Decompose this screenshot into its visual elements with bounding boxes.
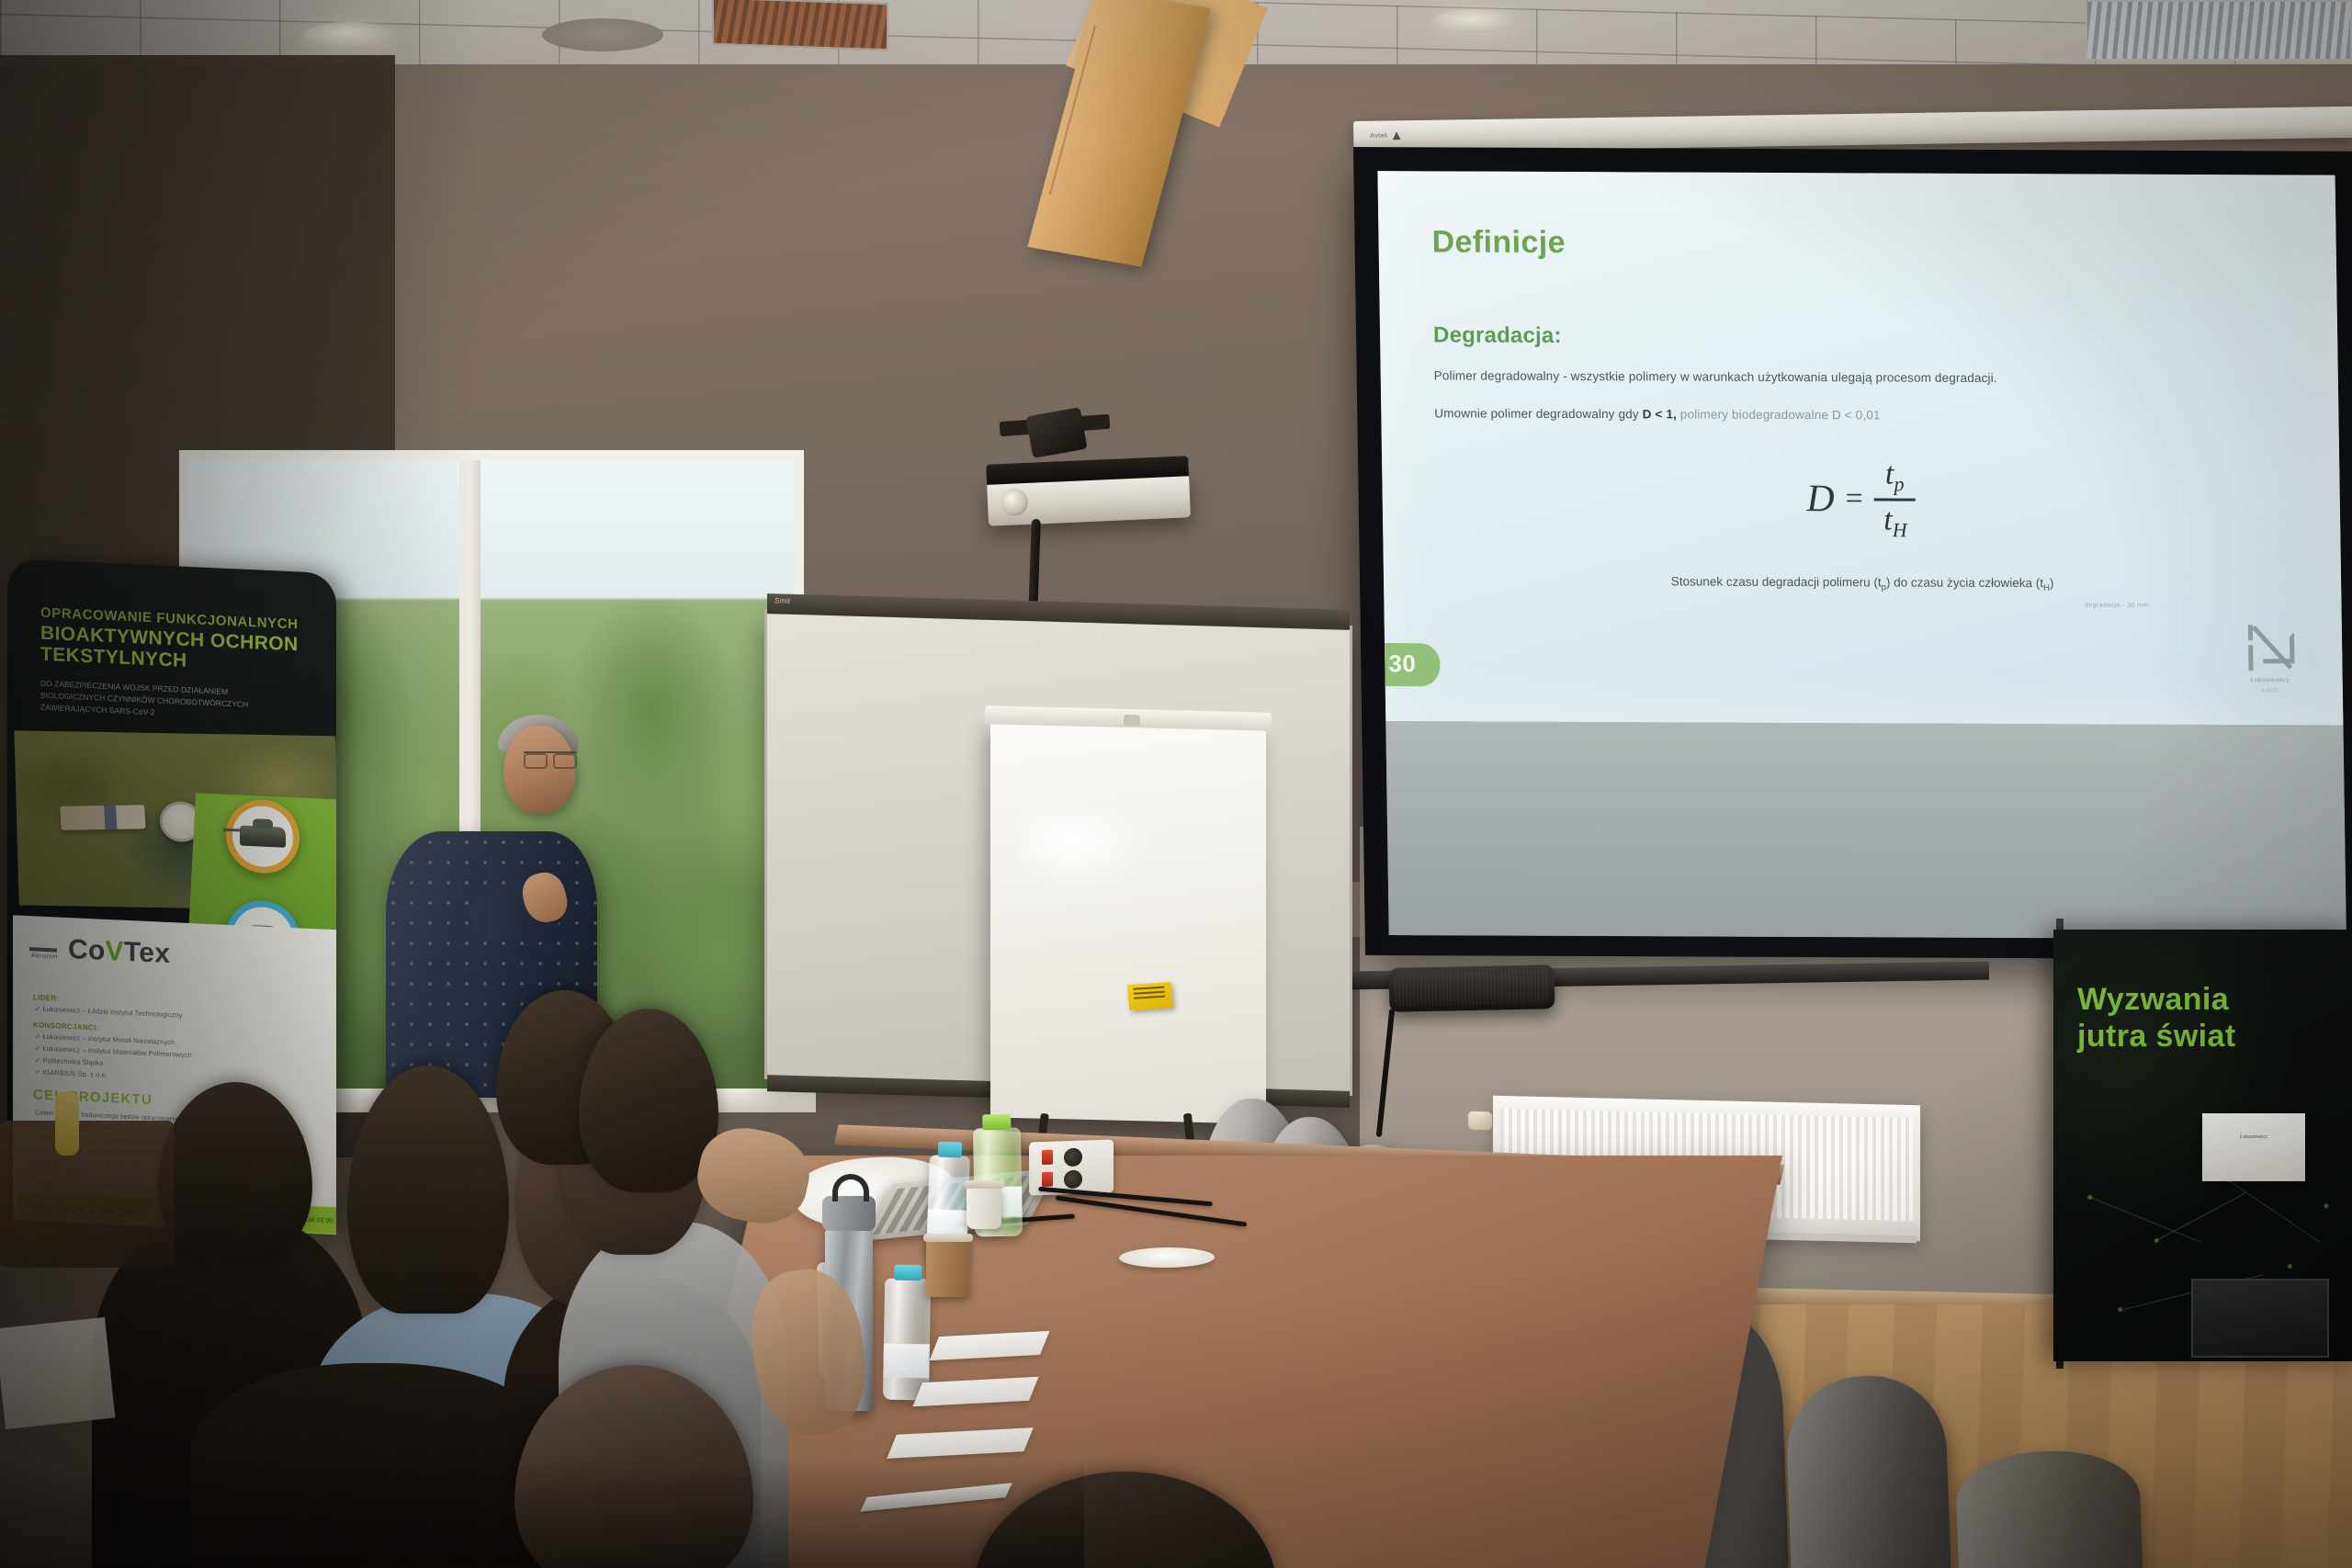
projection-screen: Definicje Degradacja: Polimer degradowal… (1353, 147, 2352, 960)
flipchart (990, 722, 1266, 1123)
consortium-label: KONSORCJANCI: (33, 1021, 98, 1032)
projection-screen-surface: Definicje Degradacja: Polimer degradowal… (1377, 171, 2346, 939)
lukasiewicz-logo-mark (2245, 623, 2295, 672)
ceiling-spotlight (303, 22, 395, 50)
formula-numerator: tp (1876, 455, 1914, 498)
projector-lens (1000, 488, 1028, 516)
slide-page-number-badge: 30 (1377, 643, 1440, 687)
right-banner-card: Łukasiewicz (2202, 1113, 2305, 1181)
formula-denominator-base: t (1883, 502, 1893, 536)
power-switch[interactable] (1042, 1150, 1053, 1165)
ceiling-vent (542, 18, 663, 51)
right-banner-stand (2191, 1279, 2329, 1358)
formula-numerator-sub: p (1894, 472, 1904, 495)
consortium-item: ✓ Politechnika Śląska (35, 1055, 103, 1066)
flipchart-clip (1124, 715, 1140, 726)
leader-label: LIDER: (33, 993, 59, 1002)
slide-p2-plain: Umownie polimer degradowalny gdy (1434, 406, 1643, 421)
brand-prefix: Akronim (31, 953, 58, 960)
bottle-cap (982, 1114, 1011, 1131)
presenter-head (503, 726, 575, 814)
covtex-part2: V (106, 936, 124, 967)
rollup-banner-right: Wyzwania jutra świat Łukasiewicz (2053, 930, 2352, 1361)
ceiling-air-grille (2086, 0, 2352, 61)
covtex-logo: CoVTex (68, 934, 170, 970)
presenter-glasses (524, 751, 577, 764)
soundbar-speaker (1389, 964, 1555, 1012)
screen-brand-text: Avtek (1370, 132, 1387, 139)
brand-dash (29, 947, 57, 952)
foreground-object (0, 1121, 175, 1268)
power-socket (1064, 1148, 1082, 1168)
slide-p2-bold: D < 1, (1643, 407, 1678, 421)
presentation-slide: Definicje Degradacja: Polimer degradowal… (1377, 171, 2343, 726)
wood-ceiling-slats (712, 0, 888, 51)
leader-item: ✓ Łukasiewicz – Łódzki Instytut Technolo… (35, 1004, 183, 1019)
foreground-bottle (55, 1091, 79, 1156)
logo-text-line2: ŁÓDŹ (2262, 688, 2278, 694)
audience-body (191, 1363, 559, 1568)
ceiling-spotlight (1433, 9, 1518, 33)
conference-room-scene: OPRACOWANIE FUNKCJONALNYCH BIOAKTYWNYCH … (0, 0, 2352, 1568)
formula-denominator: tH (1874, 501, 1917, 544)
covtex-part1: Co (68, 934, 106, 966)
section-title-cel-projektu: CEL PROJEKTU (33, 1087, 153, 1108)
radiator-valve (1468, 1111, 1492, 1131)
whiteboard-brand: Smit (775, 596, 790, 604)
slide-title: Definicje (1431, 224, 2283, 264)
lukasiewicz-logo: Łukasiewicz ŁÓDŹ (2245, 623, 2295, 694)
right-banner-title-line2: jutra świat (2077, 1018, 2352, 1055)
slide-p2-muted: polimery biodegradowalne D < 0,01 (1677, 407, 1881, 422)
slide-section-heading: Degradacja: (1433, 322, 2285, 352)
formula-denominator-sub: H (1893, 518, 1907, 541)
foreground-paper (0, 1317, 115, 1429)
slide-formula-caption: Stosunek czasu degradacji polimeru (tp) … (1437, 573, 2288, 594)
screen-brand-icon (1393, 131, 1401, 140)
slide-paragraph-2: Umownie polimer degradowalny gdy D < 1, … (1434, 406, 2285, 423)
bottle-label (883, 1344, 930, 1379)
bottle-cap (894, 1265, 922, 1281)
logo-bar-bottom (2248, 645, 2253, 671)
slide-source-note: degradacja - 30 min (2085, 602, 2149, 608)
sticky-note (1127, 982, 1173, 1010)
formula-numerator-base: t (1885, 457, 1894, 491)
right-banner-card-text: Łukasiewicz (2210, 1134, 2298, 1141)
tank-icon (240, 825, 286, 847)
formula-fraction: tp tH (1873, 455, 1917, 544)
formula-lhs: D (1806, 477, 1835, 521)
banner-title: OPRACOWANIE FUNKCJONALNYCH BIOAKTYWNYCH … (40, 606, 316, 678)
formula-equals: = (1845, 482, 1863, 517)
chair (1955, 1449, 2143, 1568)
consortium-item: ✓ IGARBIUS Sp. z o.o. (35, 1067, 107, 1079)
right-banner-title: Wyzwania jutra świat (2077, 981, 2352, 1055)
coffee-cup (926, 1238, 970, 1297)
screen-brand: Avtek (1370, 131, 1401, 140)
slide-paragraph-1: Polimer degradowalny - wszystkie polimer… (1434, 368, 2285, 386)
power-switch[interactable] (1042, 1172, 1053, 1187)
paper-cup (967, 1185, 1001, 1229)
slide-formula: D = tp tH (1435, 453, 2288, 546)
logo-g-shape (2263, 632, 2295, 663)
bottle-cap (938, 1142, 963, 1158)
caption-before: Stosunek czasu degradacji polimeru (t (1671, 574, 1882, 589)
covtex-part3: Tex (124, 937, 170, 969)
chair (1784, 1373, 1951, 1568)
caption-after: ) (2050, 576, 2054, 590)
right-banner-title-line1: Wyzwania (2077, 981, 2352, 1018)
flipchart-erased-marks (1018, 807, 1156, 894)
power-socket (1064, 1170, 1082, 1190)
logo-text-line1: Łukasiewicz (2251, 677, 2290, 683)
screen-unlit-area (1385, 721, 2346, 939)
caption-middle: ) do czasu życia człowieka (t (1886, 575, 2043, 590)
banner-subtitle: DO ZABEZPIECZENIA WOJSK PRZED DZIAŁANIEM… (40, 678, 316, 727)
ceiling-projector (987, 473, 1191, 526)
paint-brush-icon (60, 805, 145, 830)
